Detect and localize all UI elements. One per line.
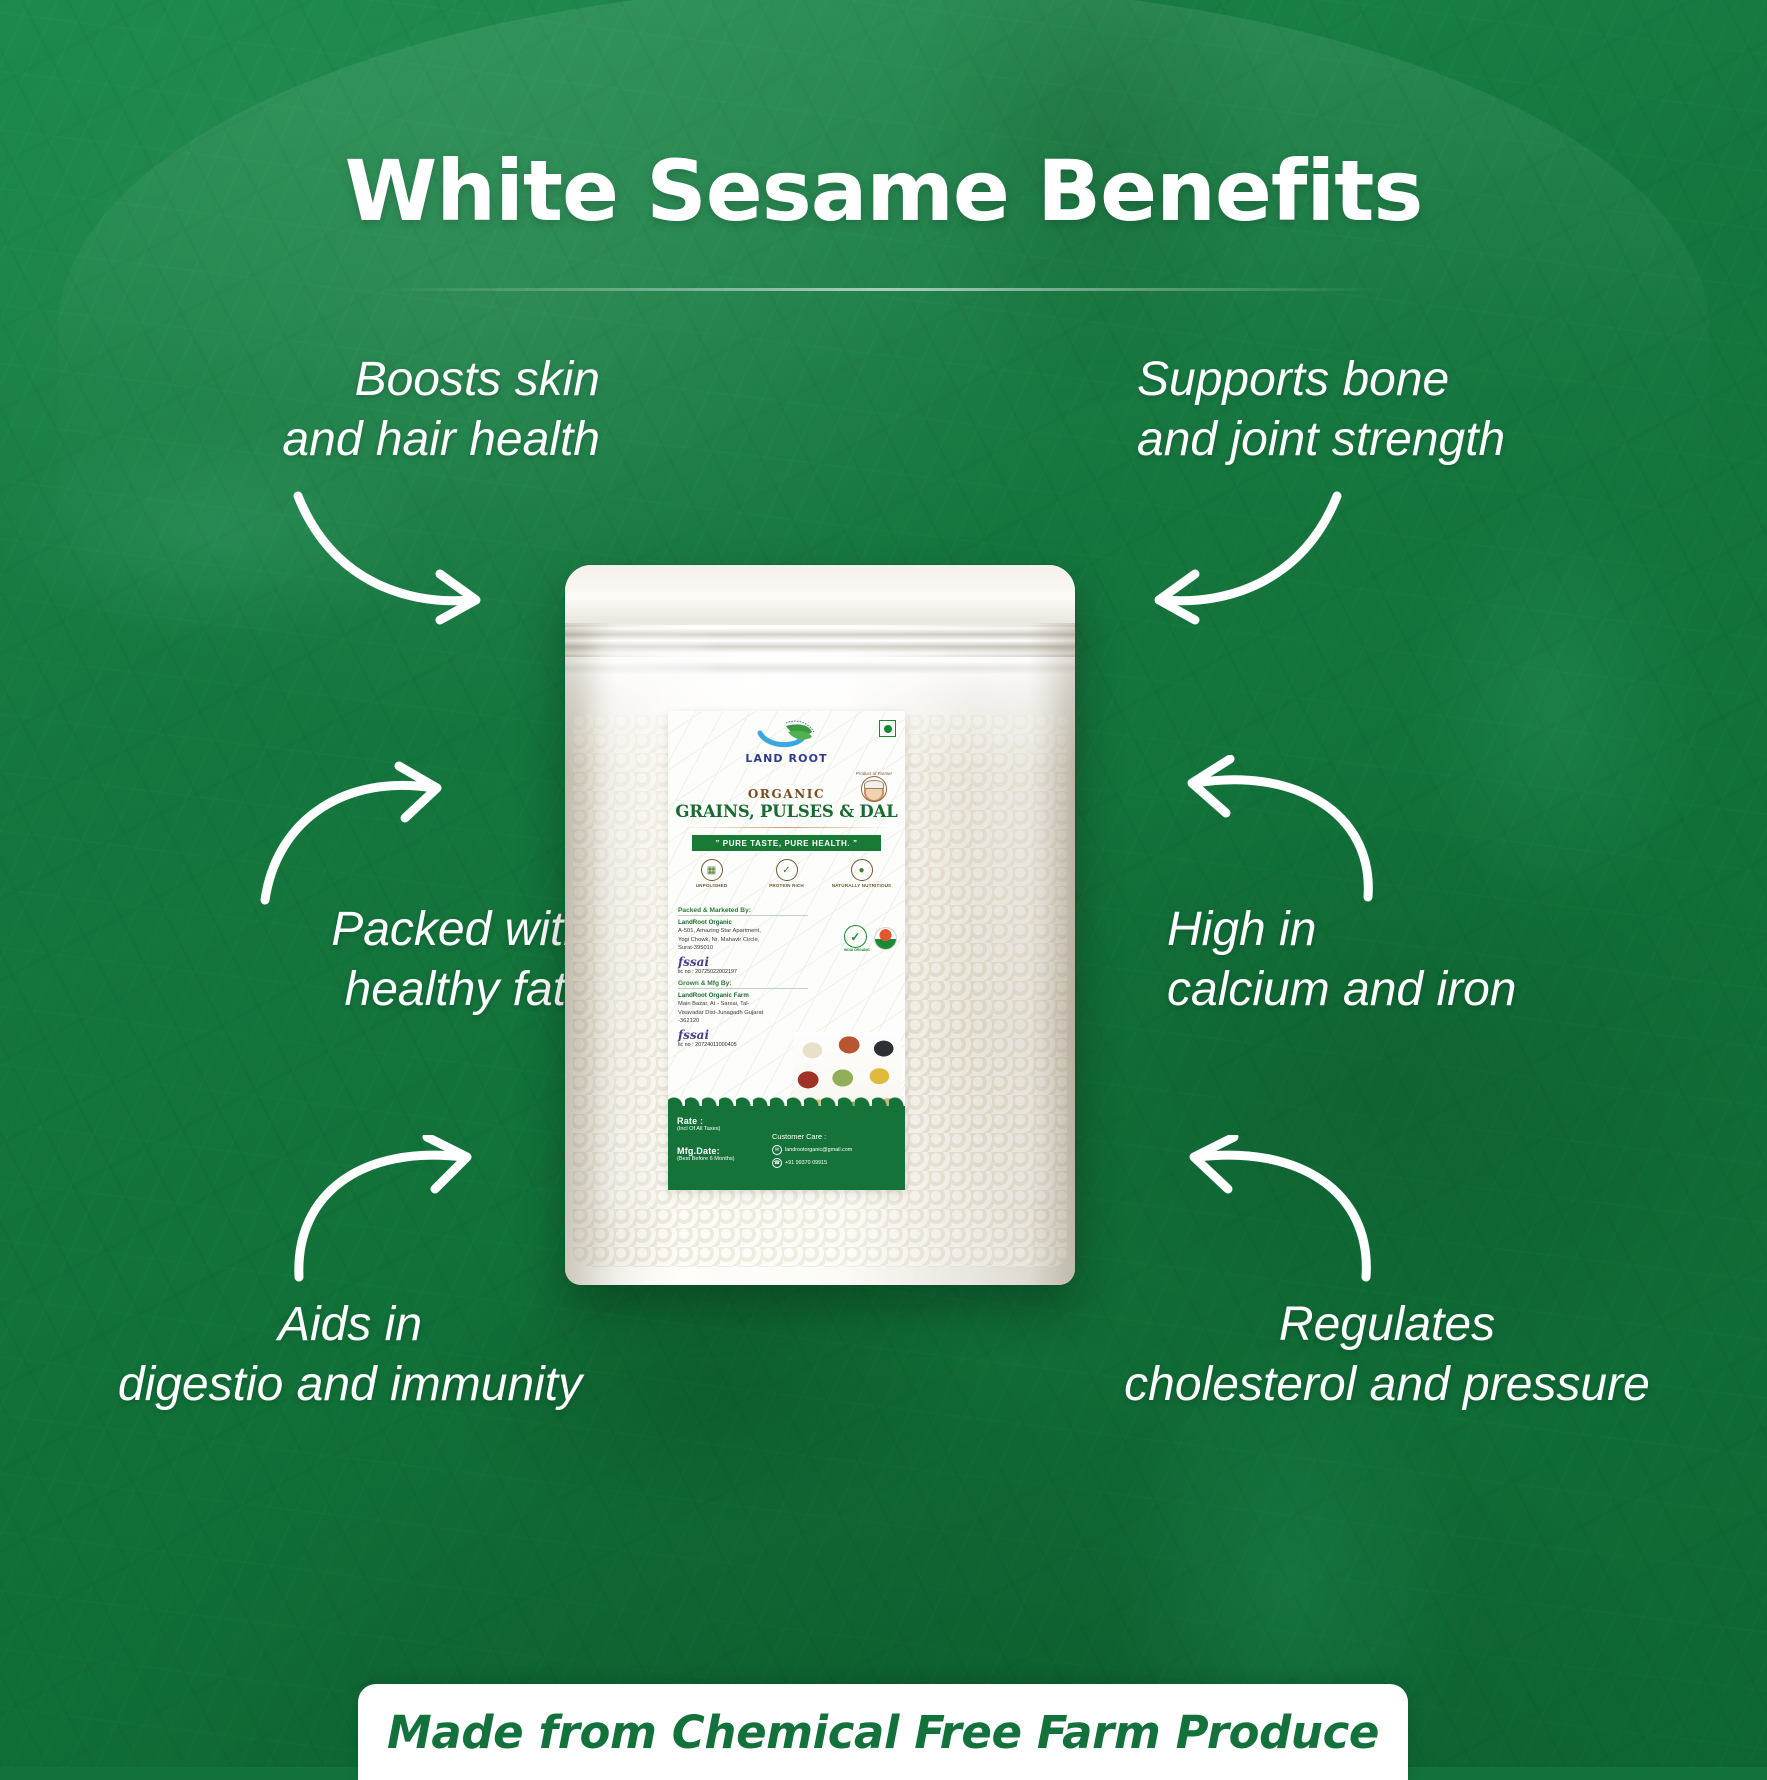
customer-care-email-row: ✉ landrootorganic@gmail.com [772, 1145, 897, 1155]
grass-edge-icon [668, 1097, 905, 1111]
benefit-bone-joint: Supports bone and joint strength [1137, 350, 1637, 471]
grain-bag-icon: ▦ [701, 859, 723, 881]
page-title: White Sesame Benefits [0, 142, 1767, 240]
badge-unpolished-label: UNPOLISHED [681, 883, 743, 888]
packed-heading: Packed & Marketed By: [678, 907, 808, 914]
grown-address-3: -362120 [678, 1017, 808, 1025]
customer-care-block: Customer Care : ✉ landrootorganic@gmail.… [772, 1132, 897, 1170]
india-organic-mark: ✓ INDIA ORGANIC [844, 925, 870, 952]
bottom-banner: Made from Chemical Free Farm Produce [358, 1684, 1408, 1780]
label-slogan: ” PURE TASTE, PURE HEALTH. ” [692, 835, 881, 851]
benefit-digestion: Aids in digestio and immunity [60, 1295, 640, 1416]
benefit-calcium-iron: High in calcium and iron [1167, 900, 1657, 1021]
organic-check-icon: ✓ [844, 925, 867, 948]
grown-heading: Grown & Mfg By: [678, 980, 808, 987]
packed-lic-no: lic no : 20725022002197 [678, 969, 808, 975]
mfg-block: Mfg.Date: (Best Before 6 Months) [677, 1146, 735, 1162]
grown-lic-no: lic no : 20724011000405 [678, 1042, 808, 1048]
packed-address-1: A-501, Amazing Star Apartment, [678, 927, 808, 935]
rate-note: (Incl Of All Taxes) [677, 1126, 720, 1132]
benefit-skin-hair: Boosts skin and hair health [130, 350, 600, 471]
grown-address-1: Main Bazar, At - Sarsai, Tal- [678, 1000, 808, 1008]
packed-rule [678, 915, 808, 916]
brand-name: LAND ROOT [741, 752, 833, 765]
bottom-banner-text: Made from Chemical Free Farm Produce [387, 1706, 1379, 1759]
jaivik-bharat-icon [874, 927, 897, 950]
label-footer-band: Rate : (Incl Of All Taxes) Mfg.Date: (Be… [668, 1106, 905, 1190]
fssai-logo-grown: fssai [678, 1029, 808, 1041]
mfg-note: (Best Before 6 Months) [677, 1156, 735, 1162]
badge-nutritious-label: NATURALLY NUTRITIOUS [831, 883, 893, 888]
benefit-cholesterol: Regulates cholesterol and pressure [1067, 1295, 1707, 1416]
pouch-top-flap [565, 565, 1075, 625]
brand-logo: LAND ROOT [741, 720, 833, 765]
badge-unpolished: ▦ UNPOLISHED [681, 859, 743, 888]
mfg-label: Mfg.Date: [677, 1146, 735, 1156]
benefit-healthy-fats: Packed with healthy fats [110, 900, 590, 1021]
email-icon: ✉ [772, 1145, 782, 1155]
product-label: LAND ROOT Product of Farmer ORGANIC GRAI… [668, 711, 905, 1190]
title-divider [383, 288, 1383, 291]
veg-mark-icon [879, 720, 896, 737]
customer-care-label: Customer Care : [772, 1132, 897, 1141]
label-headline: GRAINS, PULSES & DAL [668, 802, 905, 821]
rate-label: Rate : [677, 1116, 720, 1126]
grown-company: LandRoot Organic Farm [678, 992, 808, 1000]
grown-address-2: Visavadar Dist-Junagadh Gujarat [678, 1009, 808, 1017]
phone-icon: ☎ [772, 1158, 782, 1168]
leaf-swoosh-icon [756, 720, 818, 750]
label-badge-row: ▦ UNPOLISHED ✓ PROTEIN RICH ● NATURALLY … [674, 859, 899, 888]
packed-address-2: Yogi Chowk, Nr. Mahavir Circle, [678, 936, 808, 944]
badge-protein-rich: ✓ PROTEIN RICH [756, 859, 818, 888]
seed-pod-icon: ● [851, 859, 873, 881]
customer-care-phone-row: ☎ +91 99370 09915 [772, 1158, 897, 1168]
label-divider [684, 827, 889, 828]
grown-rule [678, 988, 808, 989]
pouch-gloss-right [983, 666, 1049, 1199]
fssai-logo-packed: fssai [678, 956, 808, 968]
customer-care-email: landrootorganic@gmail.com [785, 1147, 852, 1153]
label-address-block: Packed & Marketed By: LandRoot Organic A… [678, 907, 808, 1048]
leaf-sprout-icon: ✓ [776, 859, 798, 881]
certification-marks: ✓ INDIA ORGANIC [844, 925, 897, 952]
label-organic-word: ORGANIC [668, 787, 905, 801]
customer-care-phone: +91 99370 09915 [785, 1160, 827, 1166]
packed-company: LandRoot Organic [678, 919, 808, 927]
packed-address-3: Surat-395010 [678, 944, 808, 952]
rate-block: Rate : (Incl Of All Taxes) [677, 1116, 720, 1132]
badge-naturally-nutritious: ● NATURALLY NUTRITIOUS [831, 859, 893, 888]
india-organic-caption: INDIA ORGANIC [844, 948, 870, 952]
badge-protein-rich-label: PROTEIN RICH [756, 883, 818, 888]
